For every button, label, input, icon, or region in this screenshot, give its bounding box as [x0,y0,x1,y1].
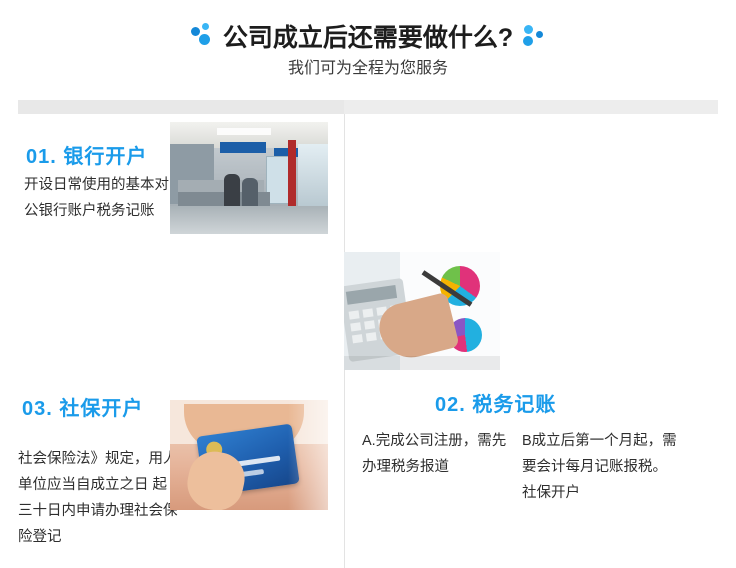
dots-decoration-right-icon [521,23,547,49]
block-02-column-a: A.完成公司注册，需先办理税务报道 [362,428,512,480]
block-02-column-b: B成立后第一个月起，需要会计每月记账报税。 社保开户 [522,428,678,506]
dots-decoration-left-icon [189,23,215,49]
block-02-title: 02. 税务记账 [435,388,556,417]
page-header: 公司成立后还需要做什么? 我们可为全程为您服务 [0,0,736,100]
block-03-body: 社会保险法》规定，用人单位应当自成立之日 起三十日内申请办理社会保险登记 [18,446,178,550]
promo-page: 公司成立后还需要做什么? 我们可为全程为您服务 01. 银行开户 开设日常使用的… [0,0,736,568]
block-01-body: 开设日常使用的基本对公银行账户税务记账 [24,172,172,224]
page-subtitle: 我们可为全程为您服务 [0,54,736,78]
separator-band-left [18,100,344,114]
title-row: 公司成立后还需要做什么? [0,18,736,54]
block-03-title: 03. 社保开户 [22,392,143,421]
block-01-title: 01. 银行开户 [26,140,147,169]
page-title: 公司成立后还需要做什么? [223,18,513,54]
bank-office-photo [170,122,328,234]
social-security-card-photo [170,400,328,510]
calculator-chart-photo [344,252,500,370]
